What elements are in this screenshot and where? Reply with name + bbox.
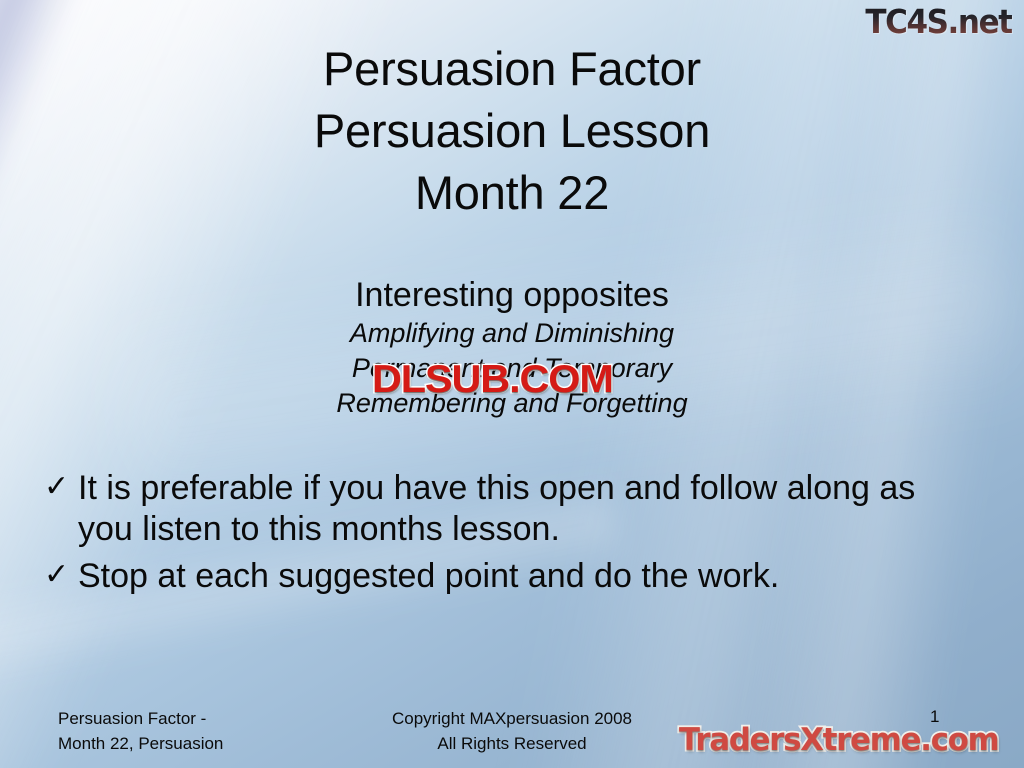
title-line-1: Persuasion Factor bbox=[0, 38, 1024, 100]
list-item: ✓ Stop at each suggested point and do th… bbox=[44, 556, 974, 597]
check-icon: ✓ bbox=[44, 468, 78, 506]
subtitle-line-1: Amplifying and Diminishing bbox=[0, 316, 1024, 351]
subtitle-heading: Interesting opposites bbox=[0, 275, 1024, 316]
title-line-2: Persuasion Lesson bbox=[0, 100, 1024, 162]
tradersxtreme-watermark: TradersXtreme.com bbox=[679, 722, 998, 758]
slide-title: Persuasion Factor Persuasion Lesson Mont… bbox=[0, 38, 1024, 224]
bullet-list: ✓ It is preferable if you have this open… bbox=[44, 468, 974, 603]
check-icon: ✓ bbox=[44, 556, 78, 594]
list-item: ✓ It is preferable if you have this open… bbox=[44, 468, 974, 550]
tc4s-watermark: TC4S.net bbox=[866, 2, 1012, 41]
bullet-text: It is preferable if you have this open a… bbox=[78, 468, 974, 550]
presentation-slide: TC4S.net Persuasion Factor Persuasion Le… bbox=[0, 0, 1024, 768]
title-line-3: Month 22 bbox=[0, 162, 1024, 224]
bullet-text: Stop at each suggested point and do the … bbox=[78, 556, 974, 597]
dlsub-watermark: DLSUB.COM bbox=[372, 358, 613, 402]
